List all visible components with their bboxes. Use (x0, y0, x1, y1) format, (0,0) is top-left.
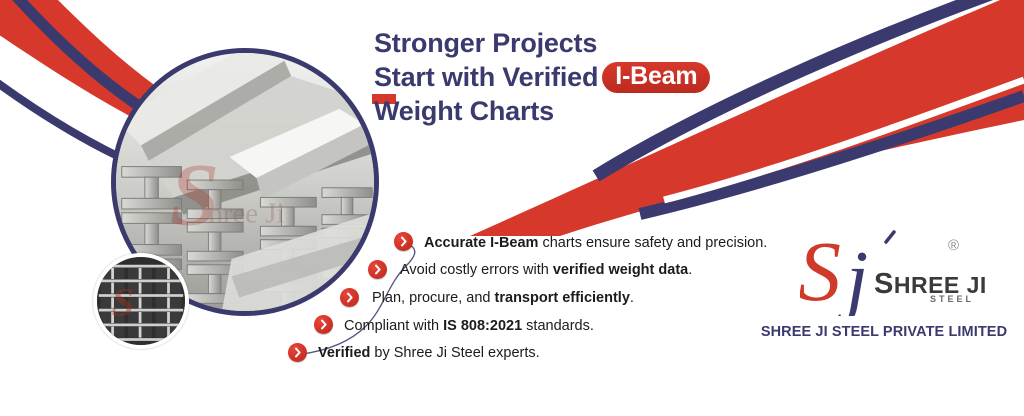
list-item: Plan, procure, and transport efficiently… (372, 289, 634, 307)
list-item: Avoid costly errors with verified weight… (400, 261, 692, 279)
chevron-right-icon[interactable] (288, 343, 307, 362)
list-item-text: by Shree Ji Steel experts. (370, 345, 539, 361)
chevron-right-icon[interactable] (394, 232, 413, 251)
swoosh-right-white-sliver (664, 80, 1024, 200)
headline: Stronger Projects Start with VerifiedI-B… (374, 26, 710, 128)
headline-line-2-text: Start with Verified (374, 62, 598, 92)
monogram-j-glyph: j (837, 236, 868, 316)
list-item-lead: Plan, procure, and (372, 290, 495, 306)
chevron-right-glyph (394, 232, 413, 251)
i-beam-cross-section-image: S (93, 253, 189, 349)
list-item-lead: Compliant with (344, 318, 443, 334)
svg-text:hree Ji: hree Ji (208, 197, 284, 229)
list-item-text: . (688, 262, 692, 278)
monogram-s-glyph: S (800, 228, 841, 316)
headline-line-2: Start with VerifiedI-Beam (374, 60, 710, 94)
chevron-right-glyph (314, 315, 333, 334)
list-item-text: . (630, 290, 634, 306)
company-tagline: SHREE JI STEEL PRIVATE LIMITED (758, 324, 1010, 340)
chevron-right-icon[interactable] (340, 288, 359, 307)
chevron-right-glyph (340, 288, 359, 307)
svg-text:S: S (170, 146, 219, 244)
monogram-accent-stroke (886, 232, 894, 242)
chevron-right-icon[interactable] (314, 315, 333, 334)
brand-cap: S (874, 268, 894, 300)
banner-root: S hree Ji (0, 0, 1024, 416)
list-item-bold: Verified (318, 345, 370, 361)
shree-ji-watermark-small: S (112, 280, 134, 325)
list-item: Compliant with IS 808:2021 standards. (344, 317, 594, 335)
list-item: Accurate I-Beam charts ensure safety and… (424, 234, 767, 252)
list-item-bold: transport efficiently (495, 290, 630, 306)
list-item: Verified by Shree Ji Steel experts. (318, 344, 540, 362)
company-logo[interactable]: S j SHREE JI STEEL ® SHREE JI STEEL PRIV… (752, 228, 1014, 350)
list-item-bold: verified weight data (553, 262, 688, 278)
list-item-bold: Accurate I-Beam (424, 235, 538, 251)
list-item-bold: IS 808:2021 (443, 318, 522, 334)
chevron-right-glyph (368, 260, 387, 279)
headline-line-1: Stronger Projects (374, 26, 710, 60)
chevron-right-glyph (288, 343, 307, 362)
chevron-right-icon[interactable] (368, 260, 387, 279)
headline-line-3: Weight Charts (374, 94, 710, 128)
i-beam-badge: I-Beam (602, 62, 710, 93)
i-beam-cross-section-photo-art: S (97, 257, 185, 345)
list-item-lead: Avoid costly errors with (400, 262, 553, 278)
list-item-text: standards. (522, 318, 594, 334)
list-item-text: charts ensure safety and precision. (538, 235, 767, 251)
svg-text:S: S (112, 280, 134, 325)
brand-subword: STEEL (930, 294, 974, 304)
registered-trademark-icon: ® (948, 238, 959, 253)
